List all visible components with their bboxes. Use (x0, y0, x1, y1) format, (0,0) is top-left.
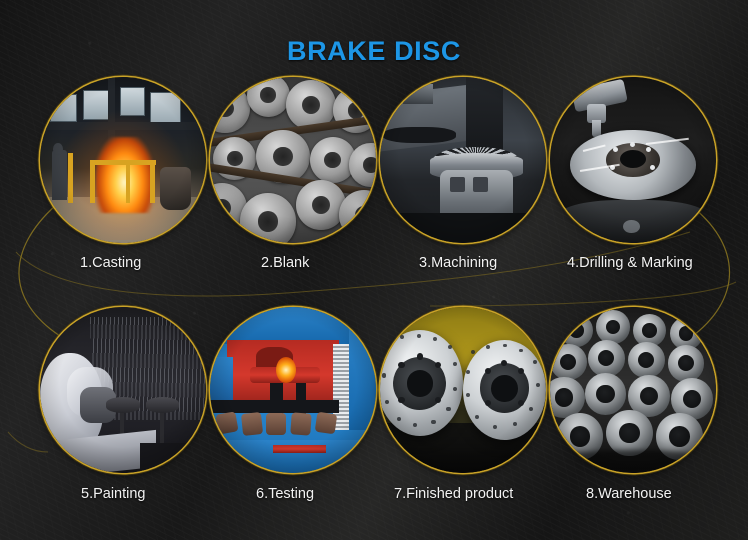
step-caption-casting: 1.Casting (80, 255, 141, 271)
step-caption-painting: 5.Painting (81, 486, 146, 502)
step-image-frame (380, 77, 546, 243)
step-image-frame (380, 307, 546, 473)
step-image-frame (550, 77, 716, 243)
step-caption-drilling-marking: 4.Drilling & Marking (567, 255, 693, 271)
step-image-frame (210, 77, 376, 243)
step-caption-finished-product: 7.Finished product (394, 486, 513, 502)
drilling-machine-icon (550, 77, 716, 243)
foundry-casting-icon (40, 77, 206, 243)
step-image-frame (550, 307, 716, 473)
step-caption-testing: 6.Testing (256, 486, 314, 502)
cnc-machine-icon (380, 77, 546, 243)
page-title: BRAKE DISC (0, 36, 748, 67)
step-caption-blank: 2.Blank (261, 255, 309, 271)
raw-castings-icon (210, 77, 376, 243)
step-caption-warehouse: 8.Warehouse (586, 486, 672, 502)
brake-disc-process-infographic: BRAKE DISC (0, 0, 748, 540)
step-image-frame (40, 307, 206, 473)
step-image-frame (210, 307, 376, 473)
step-caption-machining: 3.Machining (419, 255, 497, 271)
testing-machine-icon (210, 307, 376, 473)
paint-booth-icon (40, 307, 206, 473)
warehouse-stock-icon (550, 307, 716, 473)
finished-rotor-icon (380, 307, 546, 473)
step-image-frame (40, 77, 206, 243)
